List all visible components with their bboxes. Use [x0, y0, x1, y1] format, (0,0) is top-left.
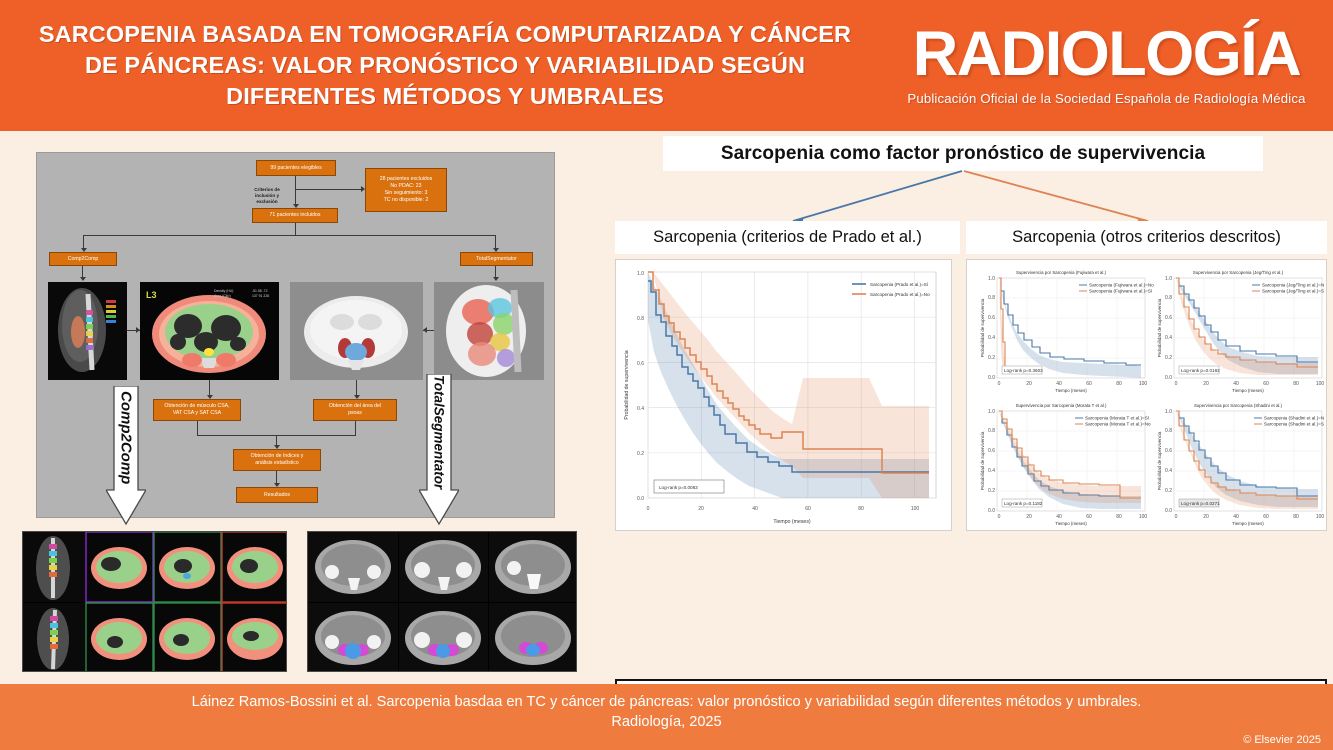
svg-text:Supervivencia por Sarcopenia (: Supervivencia por Sarcopenia (Shadini et… [1194, 403, 1283, 408]
branch-label-prado: Sarcopenia (criterios de Prado et al.) [615, 221, 960, 254]
km-prado-ylabel: Probabilidad de supervivencia [624, 350, 630, 419]
journal-logo: RADIOLOGÍA Publicación Oficial de la Soc… [886, 25, 1333, 106]
journal-name: RADIOLOGÍA [913, 25, 1301, 85]
svg-text:0.2: 0.2 [988, 355, 995, 361]
km-jegting: Supervivencia por Sarcopenia (Jeg/Ting e… [1157, 270, 1324, 393]
svg-text:Sarcopenia (Fujiwara et al.)=S: Sarcopenia (Fujiwara et al.)=Sí [1089, 289, 1153, 294]
svg-text:Sarcopenia (Jeg/Ting et al.)=N: Sarcopenia (Jeg/Ting et al.)=No [1262, 283, 1324, 288]
svg-text:Log-rank p=0.1182: Log-rank p=0.1182 [1004, 501, 1043, 506]
svg-text:80: 80 [1116, 381, 1122, 387]
big-arrow-totalsegmentator: TotalSegmentator [419, 374, 459, 526]
citation: Láinez Ramos-Bossini et al. Sarcopenia b… [0, 684, 1333, 732]
citation-reference: Láinez Ramos-Bossini et al. Sarcopenia b… [192, 694, 1142, 710]
svg-text:40: 40 [752, 506, 758, 512]
flow-box-comp2comp: Comp2Comp [49, 252, 117, 266]
svg-text:-51 58 -72: -51 58 -72 [252, 289, 268, 293]
svg-text:40: 40 [1056, 514, 1062, 520]
svg-text:20: 20 [1203, 381, 1209, 387]
svg-text:0.4: 0.4 [988, 335, 995, 341]
svg-text:0.2: 0.2 [1165, 488, 1172, 494]
svg-text:1.0: 1.0 [988, 409, 995, 415]
svg-text:0: 0 [647, 506, 650, 512]
ct-panel-totalsegmentator-results [307, 531, 577, 672]
journal-subtitle: Publicación Oficial de la Sociedad Españ… [907, 91, 1305, 106]
svg-text:60: 60 [805, 506, 811, 512]
svg-text:100: 100 [1316, 381, 1324, 387]
svg-text:1.0: 1.0 [988, 276, 995, 282]
svg-text:L3: L3 [146, 290, 157, 300]
svg-text:Log-rank p=0.0182: Log-rank p=0.0182 [1181, 368, 1220, 373]
svg-text:20: 20 [698, 506, 704, 512]
flow-label-criteria: Criterios de inclusión y exclusión [243, 181, 291, 205]
svg-text:80: 80 [1293, 381, 1299, 387]
svg-text:0.8: 0.8 [988, 428, 995, 434]
km-prado-xlabel: Tiempo (meses) [773, 519, 811, 525]
svg-text:Tiempo (meses): Tiempo (meses) [1055, 388, 1087, 393]
svg-text:Sarcopenia (Shadini et al.)=No: Sarcopenia (Shadini et al.)=No [1264, 416, 1324, 421]
svg-text:80: 80 [1293, 514, 1299, 520]
km-shadini: Supervivencia por Sarcopenia (Shadini et… [1157, 403, 1324, 526]
svg-text:60: 60 [1086, 381, 1092, 387]
flow-box-incluidos: 71 pacientes incluidos [252, 208, 338, 223]
svg-text:0.6: 0.6 [988, 448, 995, 454]
svg-text:0.0: 0.0 [988, 508, 995, 514]
svg-text:60: 60 [1263, 514, 1269, 520]
svg-text:80: 80 [858, 506, 864, 512]
branch-label-otros: Sarcopenia (otros criterios descritos) [966, 221, 1327, 254]
svg-text:40: 40 [1056, 381, 1062, 387]
flow-box-area-psoas: Obtención del área del psoas [313, 399, 397, 421]
svg-text:0.8: 0.8 [637, 316, 644, 322]
svg-text:0.6: 0.6 [637, 361, 644, 367]
page-title: SARCOPENIA BASADA EN TOMOGRAFÍA COMPUTAR… [0, 19, 886, 113]
svg-text:0.0: 0.0 [1165, 508, 1172, 514]
svg-text:Supervivencia por Sarcopenia (: Supervivencia por Sarcopenia (Morata T e… [1016, 403, 1107, 408]
copyright-notice: © Elsevier 2025 [1243, 734, 1321, 746]
chart-grid-otros-criterios: Supervivencia por Sarcopenia (Fujiwara e… [966, 259, 1327, 531]
flow-box-excluidos: 28 pacientes excluidos No PDAC: 23 Sin s… [365, 168, 447, 212]
svg-text:100: 100 [1139, 381, 1148, 387]
km-prado-svg: 0.0 0.2 0.4 0.6 0.8 1.0 0 20 40 60 80 10… [616, 260, 951, 530]
svg-text:Probabilidad de supervivencia: Probabilidad de supervivencia [1157, 298, 1162, 357]
svg-text:Sarcopenia (Prado et al.)=Sí: Sarcopenia (Prado et al.)=Sí [870, 282, 929, 287]
km-fujiwara: Supervivencia por Sarcopenia (Fujiwara e… [980, 270, 1154, 393]
svg-text:Log-rank p=0.0271: Log-rank p=0.0271 [1181, 501, 1220, 506]
svg-text:0.2: 0.2 [637, 451, 644, 457]
svg-text:Sarcopenia (Morata T et al.)=S: Sarcopenia (Morata T et al.)=Sí [1085, 416, 1150, 421]
svg-text:Density (HU): Density (HU) [214, 289, 233, 293]
flow-box-totalsegmentator: TotalSegmentator [460, 252, 533, 266]
ct-panel-comp2comp-results [22, 531, 287, 672]
flow-box-resultados: Resultados [236, 487, 318, 503]
svg-text:0.0: 0.0 [988, 375, 995, 381]
svg-text:40: 40 [1233, 381, 1239, 387]
svg-text:Supervivencia por Sarcopenia (: Supervivencia por Sarcopenia (Fujiwara e… [1016, 270, 1107, 275]
svg-text:Sarcopenia (Fujiwara et al.)=N: Sarcopenia (Fujiwara et al.)=No [1089, 283, 1154, 288]
svg-text:Sarcopenia (Prado et al.)=No: Sarcopenia (Prado et al.)=No [870, 292, 930, 297]
svg-text:80: 80 [1116, 514, 1122, 520]
km-prado-annotation: Log-rank p=0.0083 [654, 480, 724, 493]
ct-axial-l3-segmented: L3 Density (HU)-51 58 -72 Area (CM²)137 … [140, 282, 279, 380]
svg-text:1.0: 1.0 [637, 271, 644, 277]
svg-text:100: 100 [1316, 514, 1324, 520]
svg-text:0.4: 0.4 [637, 406, 644, 412]
svg-text:0: 0 [998, 514, 1001, 520]
svg-text:Probabilidad de supervivencia: Probabilidad de supervivencia [1157, 431, 1162, 490]
svg-text:1.0: 1.0 [1165, 409, 1172, 415]
citation-journal-year: Radiología, 2025 [611, 714, 721, 730]
big-arrow-comp2comp: Comp2Comp [106, 386, 146, 526]
ct-sagittal-totalsegmentator [434, 282, 544, 380]
flow-box-indices: Obtención de índices y análisis estadíst… [233, 449, 321, 471]
big-arrow-totalsegmentator-label: TotalSegmentator [419, 374, 459, 490]
svg-text:Sarcopenia (Morata T et al.)=N: Sarcopenia (Morata T et al.)=No [1085, 422, 1151, 427]
svg-text:Sarcopenia (Jeg/Ting et al.)=S: Sarcopenia (Jeg/Ting et al.)=Sí [1262, 289, 1324, 294]
svg-text:Log-rank p=0.3603: Log-rank p=0.3603 [1004, 368, 1043, 373]
svg-text:Tiempo (meses): Tiempo (meses) [1055, 521, 1087, 526]
ct-sagittal-comp2comp [48, 282, 127, 380]
svg-text:0.4: 0.4 [1165, 468, 1172, 474]
svg-text:1.0: 1.0 [1165, 276, 1172, 282]
poster-footer: Láinez Ramos-Bossini et al. Sarcopenia b… [0, 684, 1333, 750]
svg-text:0.6: 0.6 [1165, 315, 1172, 321]
svg-text:20: 20 [1203, 514, 1209, 520]
svg-text:60: 60 [1086, 514, 1092, 520]
svg-text:0.0: 0.0 [1165, 375, 1172, 381]
svg-text:0.6: 0.6 [1165, 448, 1172, 454]
graphical-abstract-poster: SARCOPENIA BASADA EN TOMOGRAFÍA COMPUTAR… [0, 0, 1333, 750]
svg-text:40: 40 [1233, 514, 1239, 520]
svg-text:20: 20 [1026, 381, 1032, 387]
poster-body: 99 pacientes elegibles Criterios de incl… [0, 131, 1333, 684]
svg-text:0: 0 [998, 381, 1001, 387]
svg-text:Area (CM²): Area (CM²) [214, 294, 231, 298]
svg-text:0: 0 [1175, 381, 1178, 387]
svg-text:20: 20 [1026, 514, 1032, 520]
svg-text:0.4: 0.4 [1165, 335, 1172, 341]
svg-text:0.4: 0.4 [988, 468, 995, 474]
svg-text:0.8: 0.8 [1165, 428, 1172, 434]
km-morata: Supervivencia por Sarcopenia (Morata T e… [980, 403, 1151, 526]
svg-text:0: 0 [1175, 514, 1178, 520]
km-grid-svg: Supervivencia por Sarcopenia (Fujiwara e… [971, 264, 1324, 528]
svg-text:0.2: 0.2 [1165, 355, 1172, 361]
svg-text:0.6: 0.6 [988, 315, 995, 321]
svg-text:60: 60 [1263, 381, 1269, 387]
ct-axial-totalsegmentator-psoas [290, 282, 423, 380]
svg-text:Tiempo (meses): Tiempo (meses) [1232, 521, 1264, 526]
svg-text:0.0: 0.0 [637, 496, 644, 502]
svg-text:Probabilidad de supervivencia: Probabilidad de supervivencia [980, 298, 985, 357]
svg-text:Supervivencia por Sarcopenia (: Supervivencia por Sarcopenia (Jeg/Ting e… [1193, 270, 1284, 275]
svg-text:100: 100 [911, 506, 920, 512]
poster-header: SARCOPENIA BASADA EN TOMOGRAFÍA COMPUTAR… [0, 0, 1333, 131]
svg-text:Probabilidad de supervivencia: Probabilidad de supervivencia [980, 431, 985, 490]
svg-text:Log-rank p=0.0083: Log-rank p=0.0083 [659, 485, 698, 490]
flow-box-musculo-csa: Obtención de músculo CSA, VAT CSA y SAT … [153, 399, 241, 421]
section-title-prognostic: Sarcopenia como factor pronóstico de sup… [663, 136, 1263, 171]
svg-text:Sarcopenia (Shadini et al.)=Sí: Sarcopenia (Shadini et al.)=Sí [1264, 422, 1324, 427]
flow-box-eligibles: 99 pacientes elegibles [256, 160, 336, 176]
svg-text:0.8: 0.8 [1165, 295, 1172, 301]
svg-text:100: 100 [1139, 514, 1148, 520]
svg-text:0.8: 0.8 [988, 295, 995, 301]
big-arrow-comp2comp-label: Comp2Comp [106, 386, 146, 490]
svg-text:Tiempo (meses): Tiempo (meses) [1232, 388, 1264, 393]
chart-km-prado: 0.0 0.2 0.4 0.6 0.8 1.0 0 20 40 60 80 10… [615, 259, 952, 531]
svg-text:137 91 228: 137 91 228 [252, 294, 269, 298]
svg-text:0.2: 0.2 [988, 488, 995, 494]
